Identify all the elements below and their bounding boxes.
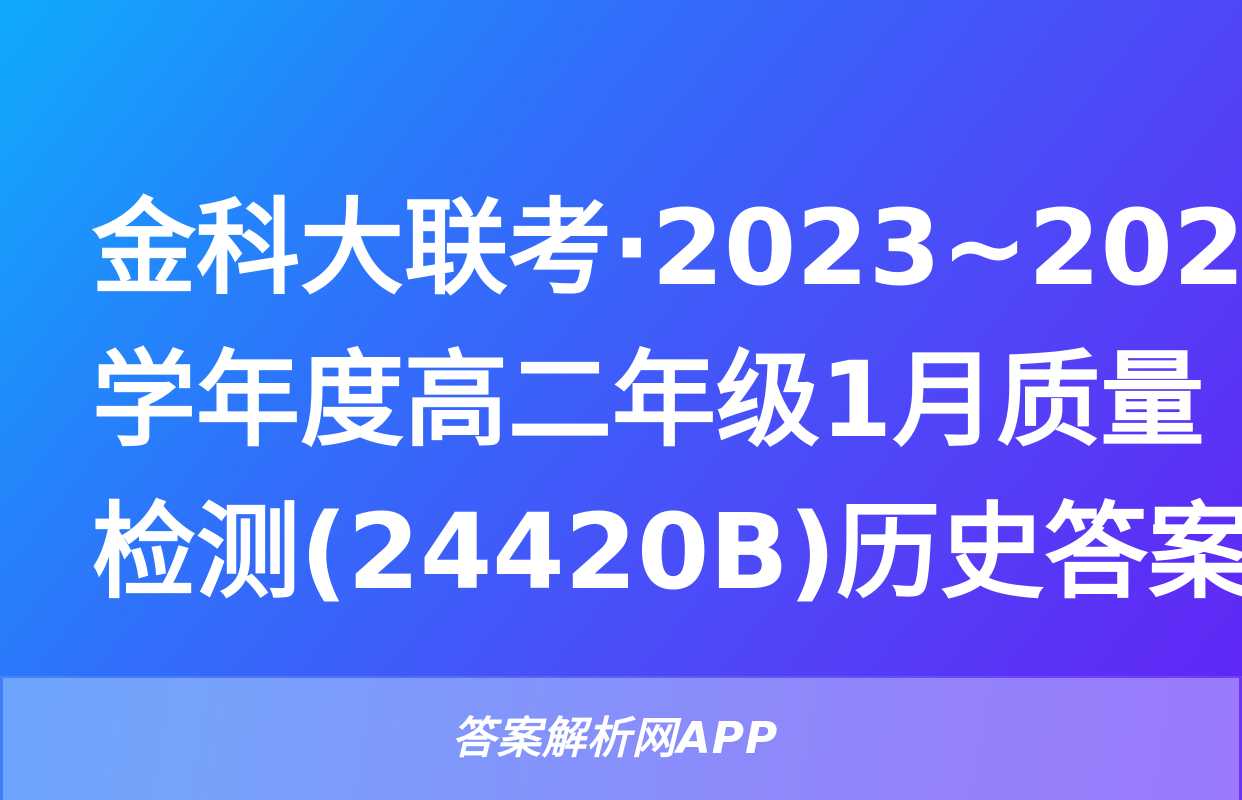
title-line-2: 学年度高二年级1月质量 — [92, 324, 1182, 476]
title-line-1: 金科大联考·2023~2024 — [92, 172, 1182, 324]
footer-content: 答案解析网APP — [0, 678, 1242, 800]
app-watermark: 答案解析网APP — [452, 713, 779, 765]
poster-root: 金科大联考·2023~2024 学年度高二年级1月质量 检测(24420B)历史… — [0, 0, 1242, 800]
title-line-3: 检测(24420B)历史答案 — [92, 476, 1182, 628]
